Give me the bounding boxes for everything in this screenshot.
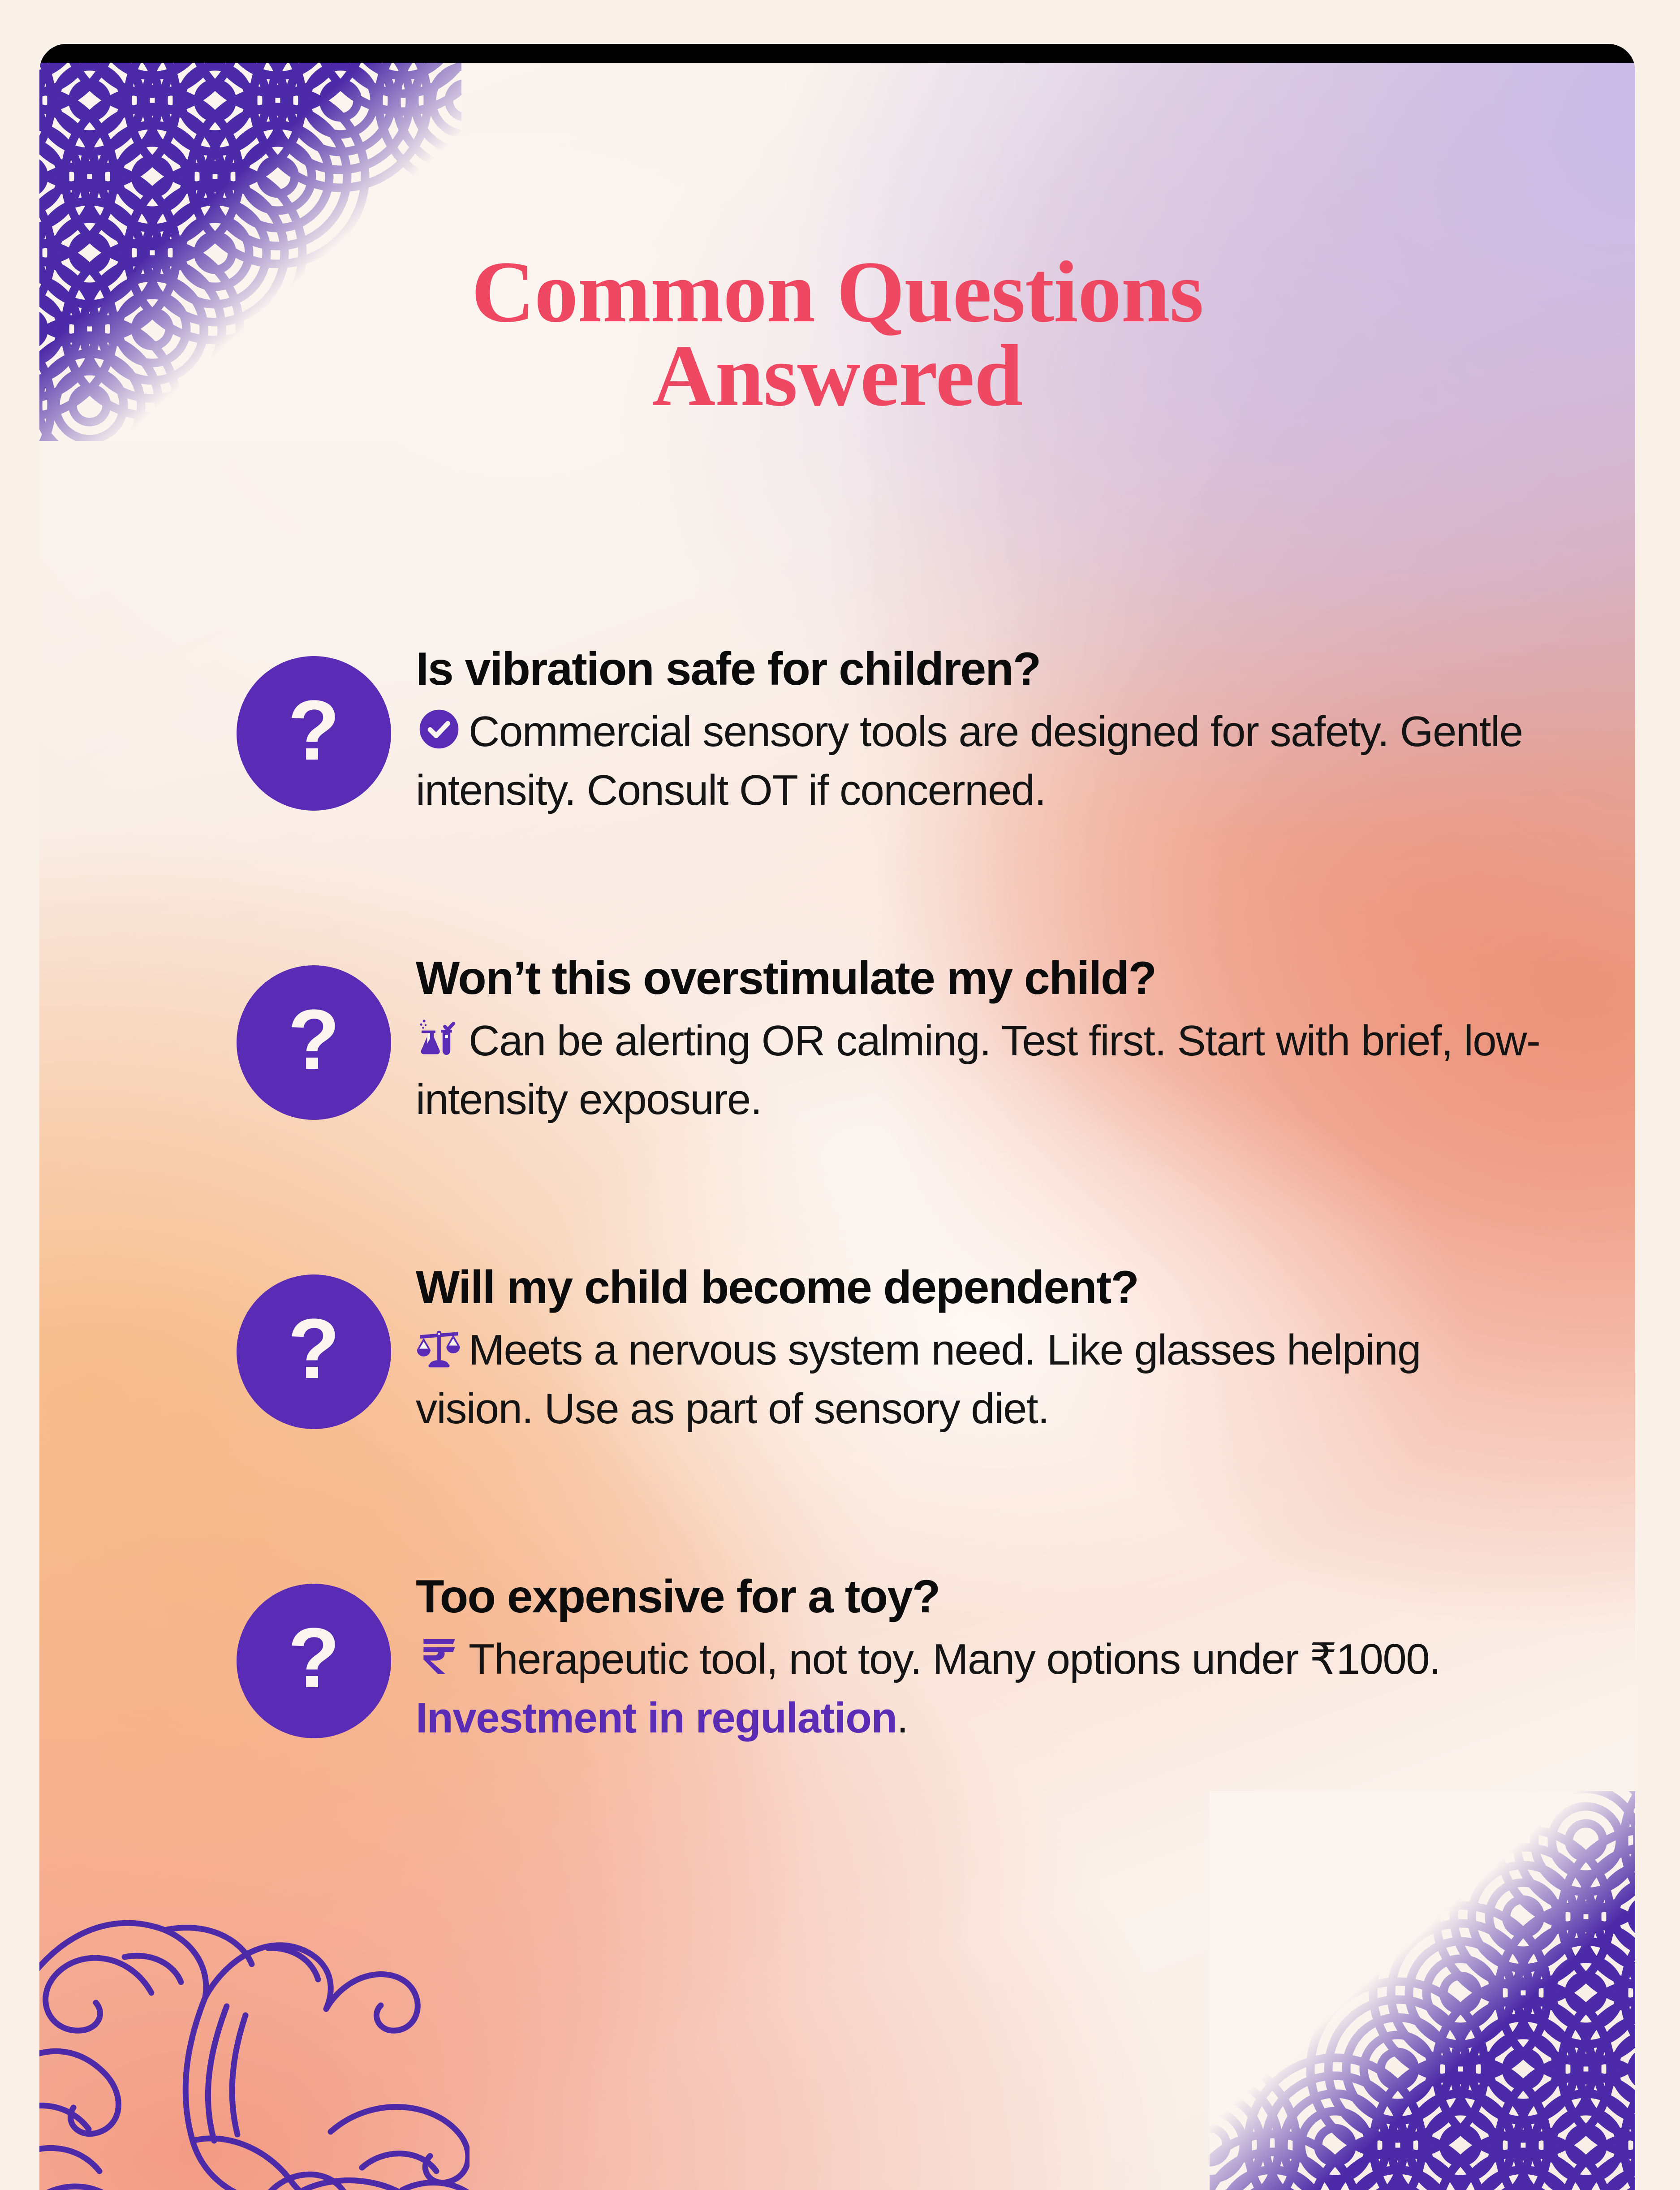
question-mark-badge: ?: [237, 656, 391, 811]
faq-item: ? Will my child become dependent? Meets …: [39, 1263, 1635, 1572]
faq-item: ? Won’t this overstimulate my child? Can…: [39, 954, 1635, 1263]
faq-answer: Can be alerting OR calming. Test first. …: [416, 1012, 1541, 1129]
faq-answer-highlight: Investment in regulation: [416, 1694, 896, 1742]
title-line-1: Common Questions: [471, 243, 1203, 341]
faq-question: Is vibration safe for children?: [416, 644, 1541, 694]
page-title: Common Questions Answered: [39, 251, 1635, 417]
faq-answer-prefix: Therapeutic tool, not toy. Many options …: [469, 1635, 1440, 1683]
faq-item: ? Too expensive for a toy? Therapeutic t…: [39, 1572, 1635, 1881]
question-mark-icon: ?: [288, 1616, 340, 1701]
faq-answer-text: Meets a nervous system need. Like glasse…: [416, 1326, 1421, 1433]
faq-list: ? Is vibration safe for children? Commer…: [39, 644, 1635, 1881]
test-tube-flask-icon: [416, 1015, 462, 1062]
faq-answer-text: Commercial sensory tools are designed fo…: [416, 708, 1523, 814]
question-mark-badge: ?: [237, 1274, 391, 1429]
title-line-2: Answered: [39, 334, 1635, 418]
faq-question: Will my child become dependent?: [416, 1263, 1541, 1312]
check-circle-icon: [416, 706, 462, 752]
question-mark-icon: ?: [288, 997, 340, 1082]
question-mark-badge: ?: [237, 1584, 391, 1738]
faq-answer: Meets a nervous system need. Like glasse…: [416, 1321, 1541, 1438]
faq-answer-text: Can be alerting OR calming. Test first. …: [416, 1017, 1540, 1123]
top-black-bar: [39, 44, 1635, 63]
question-mark-icon: ?: [288, 688, 340, 773]
faq-answer: Therapeutic tool, not toy. Many options …: [416, 1630, 1541, 1747]
question-mark-icon: ?: [288, 1306, 340, 1391]
question-mark-badge: ?: [237, 965, 391, 1120]
balance-scale-icon: [416, 1324, 462, 1371]
faq-question: Too expensive for a toy?: [416, 1572, 1541, 1621]
faq-question: Won’t this overstimulate my child?: [416, 954, 1541, 1003]
faq-item: ? Is vibration safe for children? Commer…: [39, 644, 1635, 954]
rupee-sign-icon: [416, 1633, 462, 1680]
faq-answer-suffix: .: [896, 1694, 908, 1742]
faq-answer: Commercial sensory tools are designed fo…: [416, 703, 1541, 820]
poster-card: Common Questions Answered ? Is vibration…: [39, 44, 1635, 2190]
